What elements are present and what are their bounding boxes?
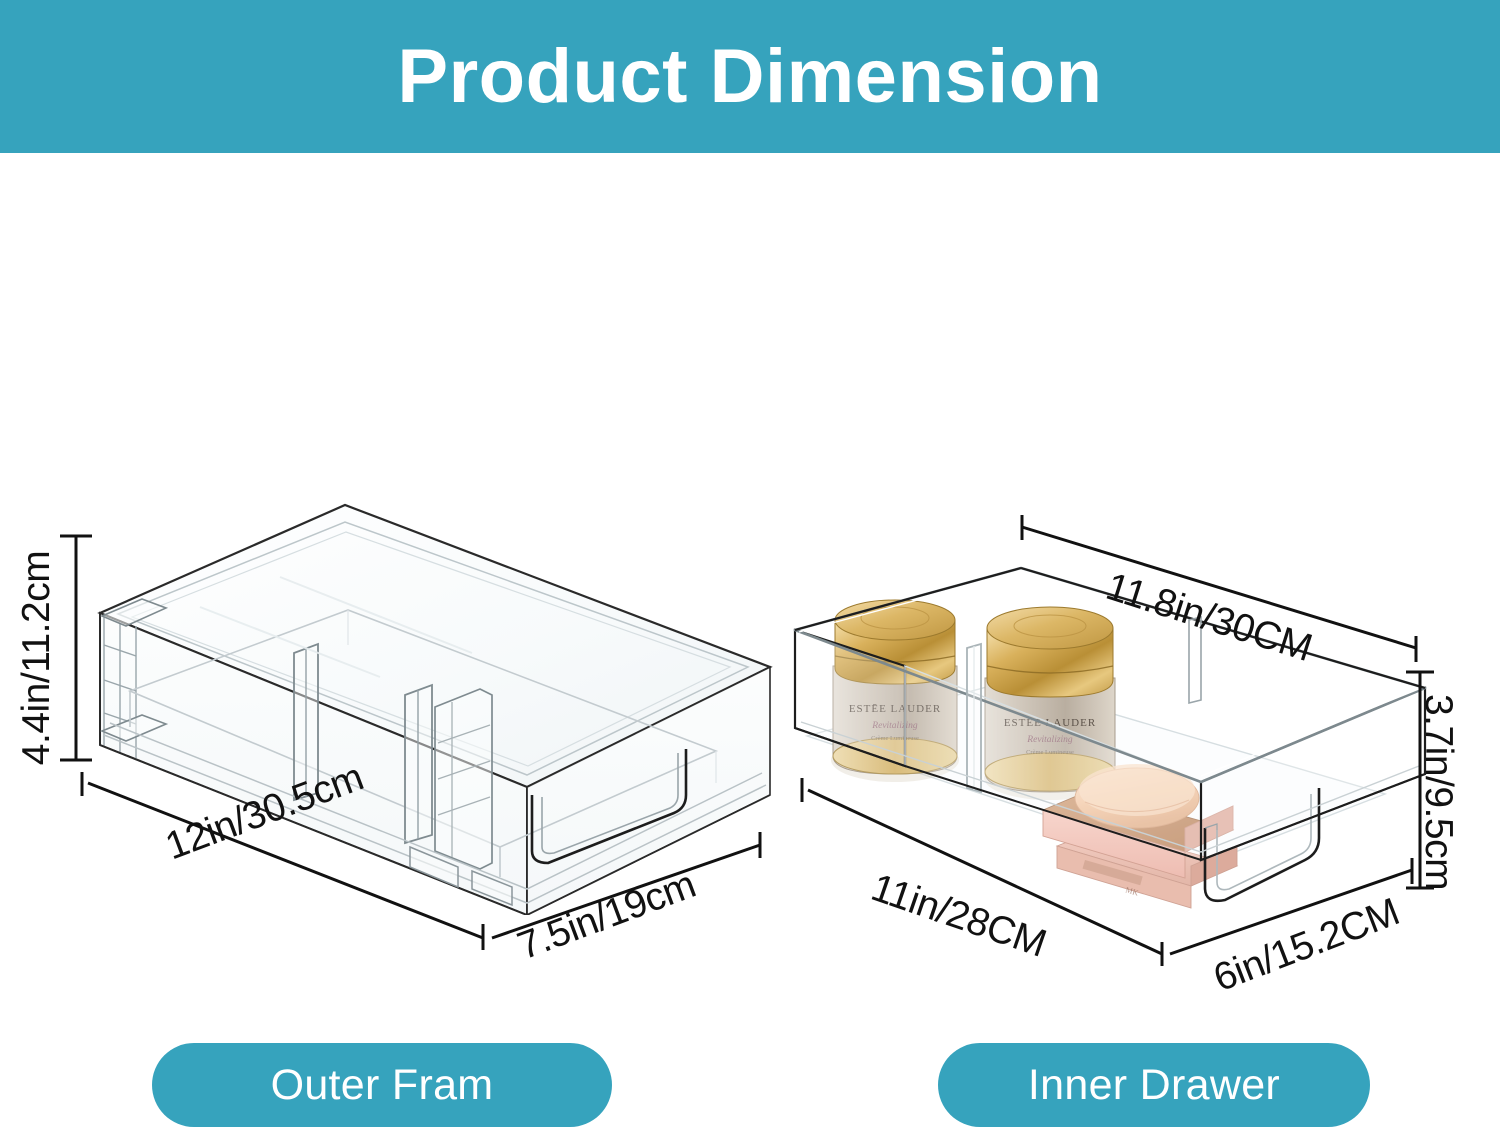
dimension-label-inner-height: 3.7in/9.5cm	[1416, 694, 1460, 890]
caption-pill-inner-drawer: Inner Drawer	[938, 1043, 1370, 1127]
header-banner: Product Dimension	[0, 0, 1500, 153]
infographic-canvas: Product Dimension	[0, 0, 1500, 1133]
dimension-label-outer-height: 4.4in/11.2cm	[15, 551, 59, 765]
caption-pill-outer-frame: Outer Fram	[152, 1043, 612, 1127]
page-title: Product Dimension	[397, 39, 1102, 115]
